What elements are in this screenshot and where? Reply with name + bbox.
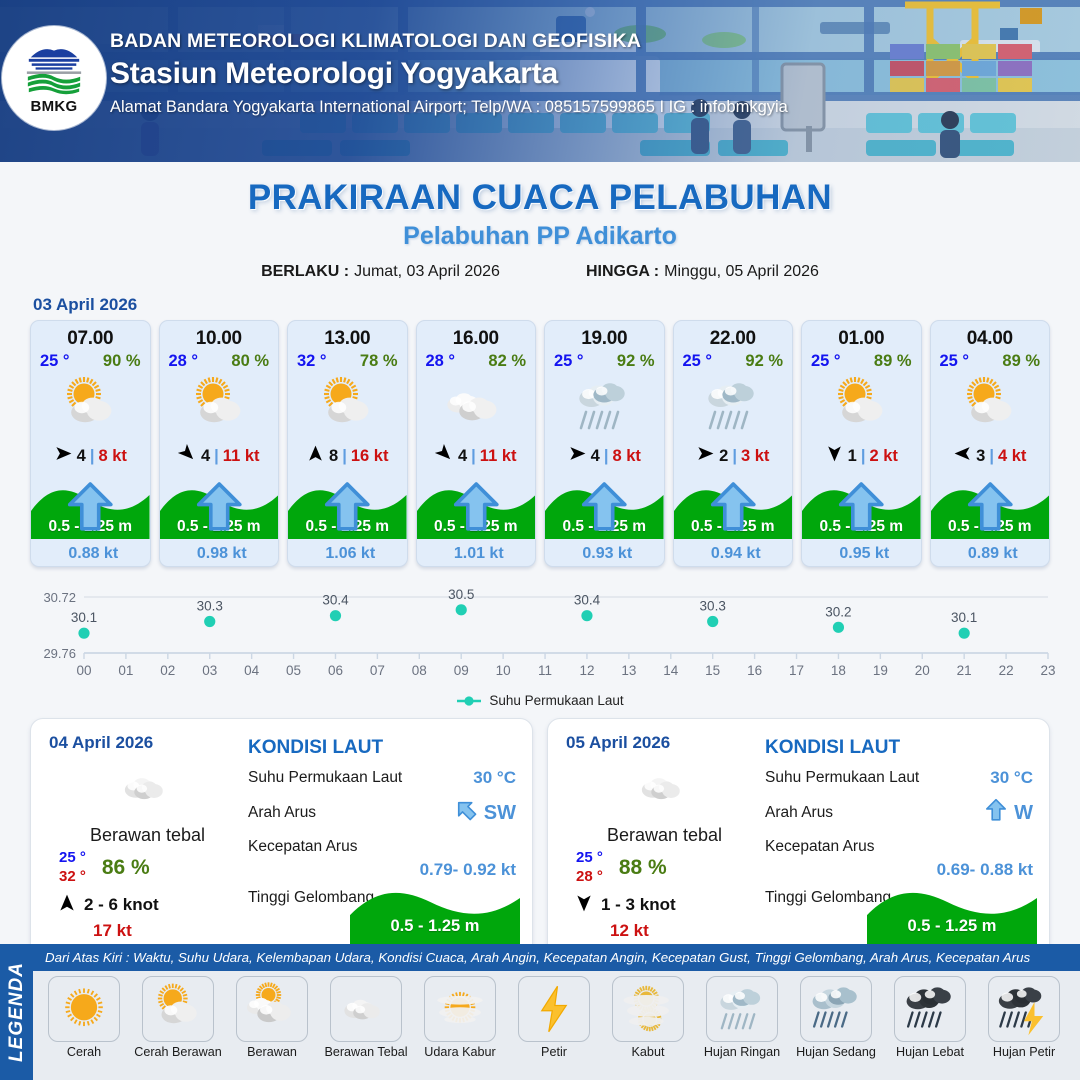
card-gust: 3 kt [741,447,769,466]
validity-row: BERLAKU :Jumat, 03 April 2026 HINGGA :Mi… [0,263,1080,281]
valid-from-value: Jumat, 03 April 2026 [354,263,500,280]
legend-item: Cerah [40,976,128,1059]
sst-chart: 30.7229.76000102030405060708091011121314… [22,579,1058,691]
svg-text:23: 23 [1040,663,1055,678]
panel-gust: 12 kt [566,921,763,941]
wind-direction-arrow-icon [54,444,73,468]
panel-wave-height: 0.5 - 1.25 m [350,917,520,936]
panel-wind-range: 1 - 3 knot [601,895,676,915]
legend-items: Cerah Cerah Berawan Berawan Berawan Teba… [33,971,1080,1059]
card-humidity: 80 % [231,352,269,371]
wind-direction-arrow-icon [57,893,77,918]
wind-separator: | [471,447,476,466]
svg-text:29.76: 29.76 [43,646,76,661]
overcast-icon [330,976,402,1042]
card-gust: 11 kt [223,447,260,466]
svg-text:17: 17 [789,663,804,678]
hourly-forecast-card: 04.00 25 ° 89 % 3 | 4 kt 0.5 - 1.25 m [930,320,1051,567]
card-time: 01.00 [802,328,921,350]
cloudy-icon [417,373,536,439]
legend-item-label: Berawan Tebal [324,1045,407,1059]
card-temp-humidity: 25 ° 89 % [931,350,1050,371]
wind-direction-arrow-icon [574,893,594,918]
card-wind-speed: 4 [77,447,86,466]
card-humidity: 92 % [745,352,783,371]
legend-tab: LEGENDA [0,944,33,1080]
overcast-icon [566,757,763,819]
wind-separator: | [861,447,866,466]
panel-temp-column: 25 ° 28 ° [576,849,603,887]
card-temperature: 25 ° [811,352,841,371]
valid-from: BERLAKU :Jumat, 03 April 2026 [261,263,500,281]
card-wind-row: 4 | 8 kt [545,441,664,471]
current-direction-row: Arah Arus SW [248,797,516,829]
card-humidity: 89 % [874,352,912,371]
legend-item: Hujan Ringan [698,976,786,1059]
wind-separator: | [989,447,994,466]
svg-text:03: 03 [202,663,217,678]
panel-condition: Berawan tebal [49,825,246,846]
card-temperature: 28 ° [169,352,199,371]
legend-bar: LEGENDA Dari Atas Kiri : Waktu, Suhu Uda… [0,944,1080,1080]
card-wind-speed: 3 [976,447,985,466]
card-wave-zone: 0.5 - 1.25 m 1.01 kt [417,471,536,566]
panel-temp-column: 25 ° 32 ° [59,849,86,887]
card-gust: 16 kt [351,447,389,466]
card-temperature: 25 ° [683,352,713,371]
card-current-speed: 0.89 kt [968,545,1018,563]
card-time: 13.00 [288,328,407,350]
panel-temps: 25 ° 32 ° 86 % [49,849,246,887]
card-temp-humidity: 25 ° 89 % [802,350,921,371]
panel-wind-row: 1 - 3 knot [566,893,763,918]
hourly-forecast-card: 07.00 25 ° 90 % 4 | 8 kt 0.5 - 1.25 m [30,320,151,567]
panel-wave-height: 0.5 - 1.25 m [867,917,1037,936]
card-wind-speed: 2 [719,447,728,466]
daily-forecast-panel: 05 April 2026 Berawan tebal 25 ° 28 ° 88… [547,718,1050,958]
card-wind-row: 4 | 11 kt [417,441,536,471]
card-temp-humidity: 25 ° 92 % [674,350,793,371]
hourly-forecast-card: 16.00 28 ° 82 % 4 | 11 kt 0.5 - 1.25 m [416,320,537,567]
card-current-speed: 0.98 kt [197,545,247,563]
svg-text:30.3: 30.3 [700,599,726,614]
svg-text:30.3: 30.3 [197,599,223,614]
svg-text:30.2: 30.2 [825,604,851,619]
daily-forecast-panel: 04 April 2026 Berawan tebal 25 ° 32 ° 86… [30,718,533,958]
card-time: 19.00 [545,328,664,350]
card-wave-zone: 0.5 - 1.25 m 0.94 kt [674,471,793,566]
page-subtitle: Pelabuhan PP Adikarto [0,222,1080,251]
legend-item: Hujan Sedang [792,976,880,1059]
legend-item-label: Kabut [632,1045,665,1059]
card-temperature: 25 ° [554,352,584,371]
card-temperature: 25 ° [940,352,970,371]
heavy-rain-icon [894,976,966,1042]
light-rain-icon [674,373,793,439]
mostly-cloudy-icon [236,976,308,1042]
partly-cloudy-icon [288,373,407,439]
card-wave-zone: 0.5 - 1.25 m 1.06 kt [288,471,407,566]
wind-direction-arrow-icon [953,444,972,468]
card-wave-zone: 0.5 - 1.25 m 0.98 kt [160,471,279,566]
hourly-forecast-card: 22.00 25 ° 92 % 2 | 3 kt 0.5 - 1.25 m [673,320,794,567]
svg-text:30.4: 30.4 [574,593,601,608]
card-current-speed: 0.93 kt [582,545,632,563]
panel-wave: 0.5 - 1.25 m [350,883,520,945]
panel-date: 04 April 2026 [49,733,246,753]
legend-body: Dari Atas Kiri : Waktu, Suhu Udara, Kele… [33,944,1080,1080]
legend-note: Dari Atas Kiri : Waktu, Suhu Udara, Kele… [33,944,1080,971]
panel-humidity: 86 % [102,856,150,880]
current-speed-value: 0.69- 0.88 kt [765,860,1033,880]
title-block: PRAKIRAAN CUACA PELABUHAN Pelabuhan PP A… [0,178,1080,281]
hourly-forecast-card: 01.00 25 ° 89 % 1 | 2 kt 0.5 - 1.25 m [801,320,922,567]
partly-cloudy-icon [802,373,921,439]
legend-item: Hujan Lebat [886,976,974,1059]
svg-text:30.72: 30.72 [43,590,76,605]
card-time: 07.00 [31,328,150,350]
panel-right: KONDISI LAUT Suhu Permukaan Laut 30 °C A… [763,719,1049,957]
bmkg-logo-text: BMKG [30,98,77,115]
card-wind-speed: 4 [458,447,467,466]
panel-temp-max: 32 ° [59,868,86,887]
svg-text:00: 00 [76,663,91,678]
legend-item: Cerah Berawan [134,976,222,1059]
sst-row: Suhu Permukaan Laut 30 °C [765,768,1033,788]
wind-separator: | [604,447,609,466]
legend-item-label: Berawan [247,1045,297,1059]
card-humidity: 90 % [103,352,141,371]
card-temp-humidity: 25 ° 90 % [31,350,150,371]
svg-text:30.1: 30.1 [951,610,977,625]
card-temperature: 28 ° [426,352,456,371]
sst-value: 30 °C [473,768,516,788]
svg-text:06: 06 [328,663,343,678]
card-current-row: 0.89 kt [931,545,1050,563]
panel-wind-row: 2 - 6 knot [49,893,246,918]
card-wave-zone: 0.5 - 1.25 m 0.95 kt [802,471,921,566]
svg-text:21: 21 [957,663,972,678]
svg-text:09: 09 [454,663,469,678]
card-wind-row: 4 | 8 kt [31,441,150,471]
legend-item: Berawan [228,976,316,1059]
card-wind-row: 4 | 11 kt [160,441,279,471]
current-speed-row: Kecepatan Arus [765,838,1033,856]
wind-separator: | [342,447,347,466]
current-speed-label: Kecepatan Arus [248,838,357,856]
panel-temp-min: 25 ° [576,849,603,868]
card-wave-zone: 0.5 - 1.25 m 0.93 kt [545,471,664,566]
wind-direction-arrow-icon [696,444,715,468]
hourly-forecast-strip: 07.00 25 ° 90 % 4 | 8 kt 0.5 - 1.25 m [0,320,1080,567]
card-temp-humidity: 28 ° 82 % [417,350,536,371]
card-wind-speed: 4 [591,447,600,466]
card-time: 16.00 [417,328,536,350]
svg-text:08: 08 [412,663,427,678]
card-current-row: 0.88 kt [31,545,150,563]
wind-direction-arrow-icon [568,444,587,468]
bmkg-logo: BMKG [2,26,106,130]
page-title: PRAKIRAAN CUACA PELABUHAN [0,178,1080,218]
card-gust: 8 kt [612,447,640,466]
page-header: BMKG BADAN METEOROLOGI KLIMATOLOGI DAN G… [0,0,1080,162]
card-current-speed: 0.94 kt [711,545,761,563]
current-direction-row: Arah Arus W [765,797,1033,829]
current-direction-label: Arah Arus [765,804,833,822]
svg-text:20: 20 [915,663,930,678]
overcast-icon [49,757,246,819]
valid-from-label: BERLAKU : [261,263,349,280]
current-direction-arrow-icon [453,797,479,829]
card-wave-zone: 0.5 - 1.25 m 0.88 kt [31,471,150,566]
card-wind-row: 8 | 16 kt [288,441,407,471]
partly-cloudy-icon [142,976,214,1042]
haze-icon [424,976,496,1042]
valid-until: HINGGA :Minggu, 05 April 2026 [586,263,819,281]
light-rain-icon [706,976,778,1042]
card-current-row: 1.01 kt [417,545,536,563]
legend-item-label: Cerah Berawan [134,1045,222,1059]
current-speed-row: Kecepatan Arus [248,838,516,856]
svg-text:14: 14 [663,663,679,678]
wind-separator: | [214,447,219,466]
card-time: 10.00 [160,328,279,350]
panel-humidity: 88 % [619,856,667,880]
svg-text:30.5: 30.5 [448,587,474,602]
card-temperature: 25 ° [40,352,70,371]
card-temperature: 32 ° [297,352,327,371]
legend-item-label: Hujan Ringan [704,1045,780,1059]
card-gust: 4 kt [998,447,1026,466]
current-direction-arrow-icon [983,797,1009,829]
card-current-speed: 1.01 kt [454,545,504,563]
wind-separator: | [732,447,737,466]
header-text-block: BADAN METEOROLOGI KLIMATOLOGI DAN GEOFIS… [110,30,788,117]
svg-text:15: 15 [705,663,720,678]
station-name: Stasiun Meteorologi Yogyakarta [110,57,788,91]
panel-temps: 25 ° 28 ° 88 % [566,849,763,887]
chart-legend: Suhu Permukaan Laut [0,693,1080,708]
legend-item: Petir [510,976,598,1059]
card-current-row: 0.94 kt [674,545,793,563]
card-wind-row: 2 | 3 kt [674,441,793,471]
svg-text:13: 13 [621,663,636,678]
card-humidity: 78 % [360,352,398,371]
day1-date: 03 April 2026 [33,295,1080,315]
card-current-row: 0.93 kt [545,545,664,563]
card-current-row: 0.95 kt [802,545,921,563]
hourly-forecast-card: 10.00 28 ° 80 % 4 | 11 kt 0.5 - 1.25 m [159,320,280,567]
panel-gust: 17 kt [49,921,246,941]
valid-until-value: Minggu, 05 April 2026 [664,263,819,280]
panel-left: 04 April 2026 Berawan tebal 25 ° 32 ° 86… [31,719,246,957]
sst-value: 30 °C [990,768,1033,788]
card-current-speed: 1.06 kt [325,545,375,563]
card-wind-speed: 8 [329,447,338,466]
card-humidity: 82 % [488,352,526,371]
sst-chart-svg: 30.7229.76000102030405060708091011121314… [22,579,1058,691]
svg-text:19: 19 [873,663,888,678]
svg-text:30.1: 30.1 [71,610,97,625]
partly-cloudy-icon [160,373,279,439]
thunderstorm-rain-icon [988,976,1060,1042]
legend-item: Kabut [604,976,692,1059]
card-wind-speed: 4 [201,447,210,466]
panel-temp-max: 28 ° [576,868,603,887]
agency-name: BADAN METEOROLOGI KLIMATOLOGI DAN GEOFIS… [110,30,788,53]
wind-direction-arrow-icon [178,444,197,468]
card-temp-humidity: 28 ° 80 % [160,350,279,371]
svg-text:12: 12 [579,663,594,678]
wind-direction-arrow-icon [825,444,844,468]
card-gust: 8 kt [98,447,126,466]
legend-item-label: Petir [541,1045,567,1059]
svg-text:16: 16 [747,663,762,678]
partly-cloudy-icon [31,373,150,439]
sst-legend-marker-icon [456,695,482,707]
wind-direction-arrow-icon [306,444,325,468]
svg-text:22: 22 [999,663,1014,678]
panel-condition: Berawan tebal [566,825,763,846]
sst-row: Suhu Permukaan Laut 30 °C [248,768,516,788]
partly-cloudy-icon [931,373,1050,439]
legend-item: Berawan Tebal [322,976,410,1059]
valid-until-label: HINGGA : [586,263,659,280]
svg-text:05: 05 [286,663,301,678]
svg-text:02: 02 [160,663,175,678]
card-humidity: 92 % [617,352,655,371]
hourly-forecast-card: 13.00 32 ° 78 % 8 | 16 kt 0.5 - 1.25 m [287,320,408,567]
svg-text:01: 01 [118,663,133,678]
station-address: Alamat Bandara Yogyakarta International … [110,98,788,117]
legend-item: Hujan Petir [980,976,1068,1059]
sea-conditions-title: KONDISI LAUT [248,737,516,759]
wind-separator: | [90,447,95,466]
sst-label: Suhu Permukaan Laut [765,769,919,787]
svg-text:11: 11 [538,663,552,678]
daily-forecast-panels: 04 April 2026 Berawan tebal 25 ° 32 ° 86… [0,708,1080,958]
lightning-icon [518,976,590,1042]
panel-right: KONDISI LAUT Suhu Permukaan Laut 30 °C A… [246,719,532,957]
card-gust: 11 kt [480,447,517,466]
card-gust: 2 kt [869,447,897,466]
current-direction-value: W [1014,802,1033,825]
legend-item-label: Hujan Sedang [796,1045,876,1059]
current-direction-label: Arah Arus [248,804,316,822]
svg-text:30.4: 30.4 [322,593,349,608]
light-rain-icon [545,373,664,439]
current-direction-value-group: SW [453,797,516,829]
legend-item: Udara Kabur [416,976,504,1059]
hourly-forecast-card: 19.00 25 ° 92 % 4 | 8 kt 0.5 - 1.25 m [544,320,665,567]
panel-date: 05 April 2026 [566,733,763,753]
card-wind-row: 1 | 2 kt [802,441,921,471]
svg-text:18: 18 [831,663,846,678]
sea-conditions-title: KONDISI LAUT [765,737,1033,759]
fog-icon [612,976,684,1042]
card-wind-speed: 1 [848,447,857,466]
chart-legend-label: Suhu Permukaan Laut [489,693,623,708]
card-time: 04.00 [931,328,1050,350]
wind-direction-arrow-icon [435,444,454,468]
card-wind-row: 3 | 4 kt [931,441,1050,471]
sunny-icon [48,976,120,1042]
panel-left: 05 April 2026 Berawan tebal 25 ° 28 ° 88… [548,719,763,957]
svg-text:07: 07 [370,663,385,678]
current-speed-label: Kecepatan Arus [765,838,874,856]
card-humidity: 89 % [1002,352,1040,371]
legend-item-label: Udara Kabur [424,1045,495,1059]
moderate-rain-icon [800,976,872,1042]
card-current-speed: 0.88 kt [68,545,118,563]
panel-wind-range: 2 - 6 knot [84,895,159,915]
card-wave-zone: 0.5 - 1.25 m 0.89 kt [931,471,1050,566]
card-current-row: 1.06 kt [288,545,407,563]
card-current-row: 0.98 kt [160,545,279,563]
panel-wave: 0.5 - 1.25 m [867,883,1037,945]
panel-temp-min: 25 ° [59,849,86,868]
current-direction-value-group: W [983,797,1033,829]
legend-item-label: Hujan Lebat [896,1045,964,1059]
svg-text:10: 10 [496,663,511,678]
card-time: 22.00 [674,328,793,350]
card-temp-humidity: 32 ° 78 % [288,350,407,371]
current-direction-value: SW [484,802,516,825]
svg-text:04: 04 [244,663,260,678]
legend-item-label: Cerah [67,1045,101,1059]
card-temp-humidity: 25 ° 92 % [545,350,664,371]
current-speed-value: 0.79- 0.92 kt [248,860,516,880]
sst-label: Suhu Permukaan Laut [248,769,402,787]
bmkg-logo-icon [23,41,85,97]
legend-item-label: Hujan Petir [993,1045,1055,1059]
legend-tab-label: LEGENDA [6,962,28,1062]
card-current-speed: 0.95 kt [839,545,889,563]
